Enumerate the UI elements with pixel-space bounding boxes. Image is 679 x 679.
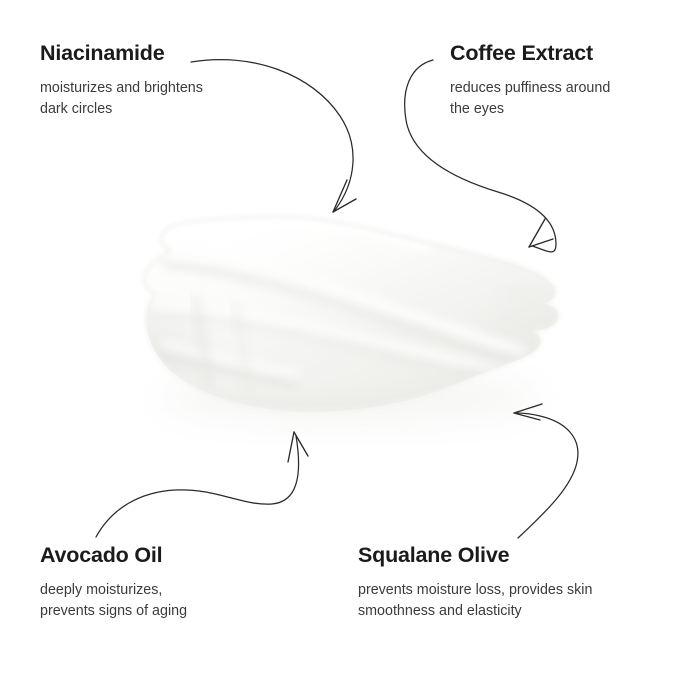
callout-description-niacinamide: moisturizes and brightens dark circles bbox=[40, 78, 203, 120]
infographic-canvas: Niacinamide moisturizes and brightens da… bbox=[0, 0, 679, 679]
callout-avocado-oil: Avocado Oil deeply moisturizes, prevents… bbox=[40, 544, 187, 622]
callout-niacinamide: Niacinamide moisturizes and brightens da… bbox=[40, 42, 203, 120]
callout-description-squalane-olive: prevents moisture loss, provides skin sm… bbox=[358, 580, 592, 622]
callout-description-line: dark circles bbox=[40, 101, 112, 117]
callout-description-line: prevents moisture loss, provides skin bbox=[358, 582, 592, 598]
callout-description-line: deeply moisturizes, bbox=[40, 582, 162, 598]
callout-description-avocado-oil: deeply moisturizes, prevents signs of ag… bbox=[40, 580, 187, 622]
callout-title-squalane-olive: Squalane Olive bbox=[358, 544, 592, 568]
callout-title-niacinamide: Niacinamide bbox=[40, 42, 203, 66]
callout-description-coffee-extract: reduces puffiness around the eyes bbox=[450, 78, 610, 120]
callout-description-line: smoothness and elasticity bbox=[358, 603, 522, 619]
callout-title-coffee-extract: Coffee Extract bbox=[450, 42, 610, 66]
callout-title-avocado-oil: Avocado Oil bbox=[40, 544, 187, 568]
callout-description-line: prevents signs of aging bbox=[40, 603, 187, 619]
callout-description-line: moisturizes and brightens bbox=[40, 80, 203, 96]
callout-squalane-olive: Squalane Olive prevents moisture loss, p… bbox=[358, 544, 592, 622]
callout-description-line: the eyes bbox=[450, 101, 504, 117]
callout-coffee-extract: Coffee Extract reduces puffiness around … bbox=[450, 42, 610, 120]
callout-description-line: reduces puffiness around bbox=[450, 80, 610, 96]
